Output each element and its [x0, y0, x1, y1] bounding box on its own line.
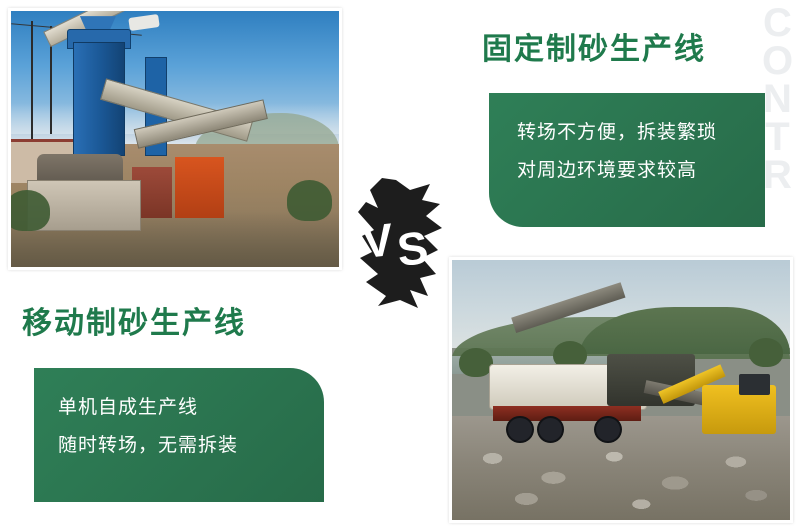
- operator-cab: [739, 374, 769, 395]
- mobile-line-bullet: 随时转场，无需拆装: [58, 436, 324, 456]
- versus-letter-s: S: [395, 221, 431, 276]
- mobile-line-title: 移动制砂生产线: [22, 298, 246, 342]
- wheel: [594, 416, 622, 443]
- versus-badge: V S: [352, 178, 448, 308]
- tree: [287, 180, 333, 221]
- mobile-line-callout: 单机自成生产线 随时转场，无需拆装: [34, 368, 324, 502]
- wheel: [506, 416, 534, 443]
- fixed-line-title: 固定制砂生产线: [482, 24, 706, 68]
- tree: [749, 338, 783, 367]
- orange-structure: [175, 157, 224, 218]
- watermark-letter: C: [758, 4, 798, 42]
- utility-pole: [31, 21, 33, 139]
- watermark-letter: O: [758, 42, 798, 80]
- mobile-line-photo: [449, 257, 793, 523]
- fixed-line-callout: 转场不方便，拆装繁琐 对周边环境要求较高: [489, 93, 765, 227]
- versus-letter-v: V: [360, 213, 396, 268]
- fixed-line-photo: [8, 8, 342, 270]
- fixed-line-bullet: 对周边环境要求较高: [517, 161, 765, 181]
- tree: [459, 348, 493, 377]
- fixed-line-bullet: 转场不方便，拆装繁琐: [517, 123, 765, 143]
- rock-pile: [452, 432, 790, 520]
- tree: [11, 190, 50, 231]
- mobile-line-bullet: 单机自成生产线: [58, 398, 324, 418]
- comparison-poster: C O N T R: [0, 0, 800, 530]
